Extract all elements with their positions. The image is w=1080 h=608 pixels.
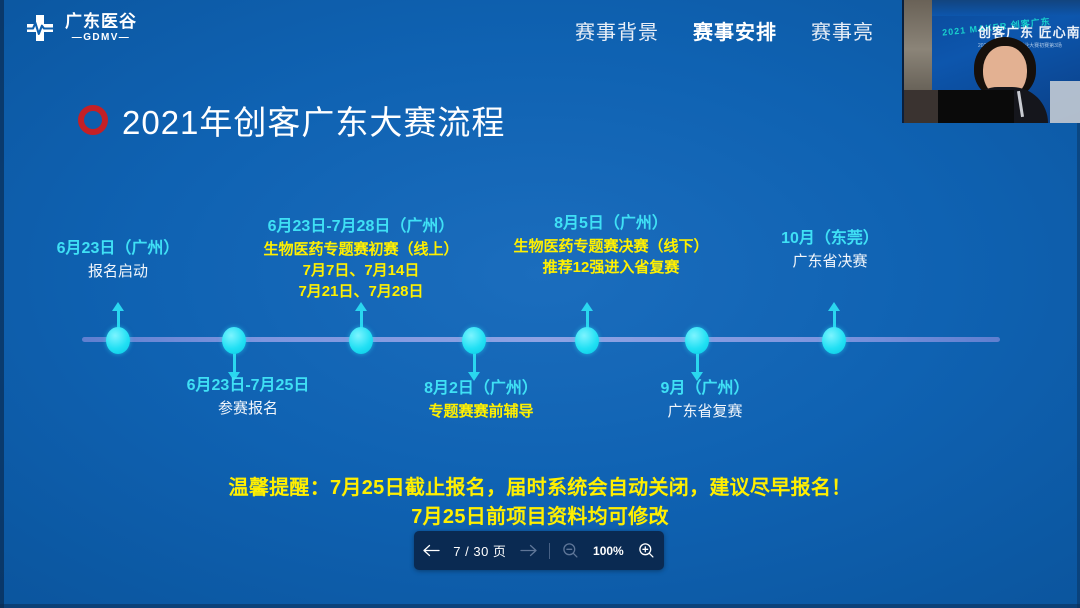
timeline-node-4[interactable] bbox=[461, 324, 487, 356]
timeline-dot bbox=[349, 327, 373, 354]
timeline-stem-down bbox=[696, 352, 699, 374]
timeline-label-1: 6月23日（广州） 报名启动 bbox=[57, 238, 180, 282]
brand-name-en: —GDMV— bbox=[65, 33, 137, 43]
timeline-label-line: 参赛报名 bbox=[187, 398, 310, 419]
brand-logo-text: 广东医谷 —GDMV— bbox=[65, 13, 137, 43]
slide-title-row: 2021年创客广东大赛流程 bbox=[78, 96, 505, 144]
timeline-axis bbox=[82, 337, 1000, 342]
video-banner-topbar bbox=[932, 0, 1080, 16]
timeline-node-1[interactable] bbox=[105, 324, 131, 356]
slide-nav: 赛事背景 赛事安排 赛事亮 bbox=[575, 16, 874, 45]
nav-item-background[interactable]: 赛事背景 bbox=[575, 16, 659, 45]
timeline-label-line: 广东省决赛 bbox=[781, 251, 879, 272]
timeline-dot bbox=[685, 327, 709, 354]
timeline-arrow-up-icon bbox=[828, 302, 840, 311]
video-foreground-left bbox=[904, 90, 940, 123]
pdf-toolbar: 7 / 30 页 100% bbox=[414, 531, 664, 570]
video-right-wall bbox=[1050, 81, 1080, 123]
magnifier-minus-icon[interactable] bbox=[553, 531, 588, 570]
timeline-label-line: 专题赛赛前辅导 bbox=[424, 401, 538, 422]
timeline-dot bbox=[575, 327, 599, 354]
timeline-dot bbox=[222, 327, 246, 354]
timeline-label-date: 6月23日（广州） bbox=[57, 238, 180, 261]
timeline-label-4: 8月2日（广州） 专题赛赛前辅导 bbox=[424, 378, 538, 422]
timeline-node-6[interactable] bbox=[684, 324, 710, 356]
video-foreground-bar bbox=[938, 90, 1014, 123]
timeline-node-3[interactable] bbox=[348, 324, 374, 356]
notice-line-2: 7月25日前项目资料均可修改 bbox=[0, 503, 1080, 532]
toolbar-divider bbox=[549, 543, 550, 559]
nav-item-schedule[interactable]: 赛事安排 bbox=[693, 16, 777, 45]
bottom-edge-border bbox=[0, 604, 1080, 608]
timeline-arrow-up-icon bbox=[112, 302, 124, 311]
page-indicator[interactable]: 7 / 30 页 bbox=[449, 541, 510, 560]
brand-name-cn: 广东医谷 bbox=[65, 13, 137, 30]
arrow-right-icon[interactable] bbox=[510, 531, 545, 570]
timeline-label-5: 8月5日（广州） 生物医药专题赛决赛（线下） 推荐12强进入省复赛 bbox=[513, 213, 708, 278]
timeline-dot bbox=[462, 327, 486, 354]
magnifier-plus-icon[interactable] bbox=[629, 531, 664, 570]
slide-notice: 温馨提醒：7月25日截止报名，届时系统会自动关闭，建议尽早报名！ 7月25日前项… bbox=[0, 474, 1080, 532]
red-ring-bullet-icon bbox=[78, 105, 108, 135]
timeline-stem-down bbox=[233, 352, 236, 374]
video-overlay[interactable]: 2021 MAKER 创客广东 创客广东 匠心南 2021年广东省创新创业大赛初… bbox=[902, 0, 1080, 123]
timeline-label-date: 10月（东莞） bbox=[781, 228, 879, 251]
timeline-label-date: 8月5日（广州） bbox=[513, 213, 708, 236]
timeline-label-line: 生物医药专题赛决赛（线下） bbox=[513, 236, 708, 257]
timeline-node-2[interactable] bbox=[221, 324, 247, 356]
timeline-label-2: 6月23日-7月25日 参赛报名 bbox=[187, 375, 310, 419]
timeline-label-line: 7月21日、7月28日 bbox=[263, 281, 458, 302]
nav-item-highlights[interactable]: 赛事亮 bbox=[811, 16, 874, 45]
medical-cross-heartbeat-icon bbox=[22, 10, 58, 46]
timeline-label-date: 6月23日-7月28日（广州） bbox=[263, 216, 458, 239]
brand-logo: 广东医谷 —GDMV— bbox=[22, 10, 137, 46]
zoom-level[interactable]: 100% bbox=[588, 544, 629, 558]
timeline-label-line: 报名启动 bbox=[57, 261, 180, 282]
timeline-label-date: 8月2日（广州） bbox=[424, 378, 538, 401]
timeline-label-line: 广东省复赛 bbox=[661, 401, 750, 422]
timeline-label-line: 推荐12强进入省复赛 bbox=[513, 257, 708, 278]
screen: 广东医谷 —GDMV— 赛事背景 赛事安排 赛事亮 2021年创客广东大赛流程 … bbox=[0, 0, 1080, 608]
arrow-left-icon[interactable] bbox=[414, 531, 449, 570]
timeline-dot bbox=[106, 327, 130, 354]
timeline-node-7[interactable] bbox=[821, 324, 847, 356]
timeline-label-line: 7月7日、7月14日 bbox=[263, 260, 458, 281]
page-title: 2021年创客广东大赛流程 bbox=[122, 96, 505, 144]
timeline-label-date: 9月（广州） bbox=[661, 378, 750, 401]
timeline-stem-down bbox=[473, 352, 476, 374]
timeline-arrow-up-icon bbox=[355, 302, 367, 311]
timeline-label-3: 6月23日-7月28日（广州） 生物医药专题赛初赛（线上） 7月7日、7月14日… bbox=[263, 216, 458, 303]
timeline-label-7: 10月（东莞） 广东省决赛 bbox=[781, 228, 879, 272]
notice-line-1: 温馨提醒：7月25日截止报名，届时系统会自动关闭，建议尽早报名！ bbox=[0, 474, 1080, 503]
timeline-arrow-up-icon bbox=[581, 302, 593, 311]
timeline-label-date: 6月23日-7月25日 bbox=[187, 375, 310, 398]
timeline-label-line: 生物医药专题赛初赛（线上） bbox=[263, 239, 458, 260]
timeline-label-6: 9月（广州） 广东省复赛 bbox=[661, 378, 750, 422]
timeline-dot bbox=[822, 327, 846, 354]
timeline-node-5[interactable] bbox=[574, 324, 600, 356]
